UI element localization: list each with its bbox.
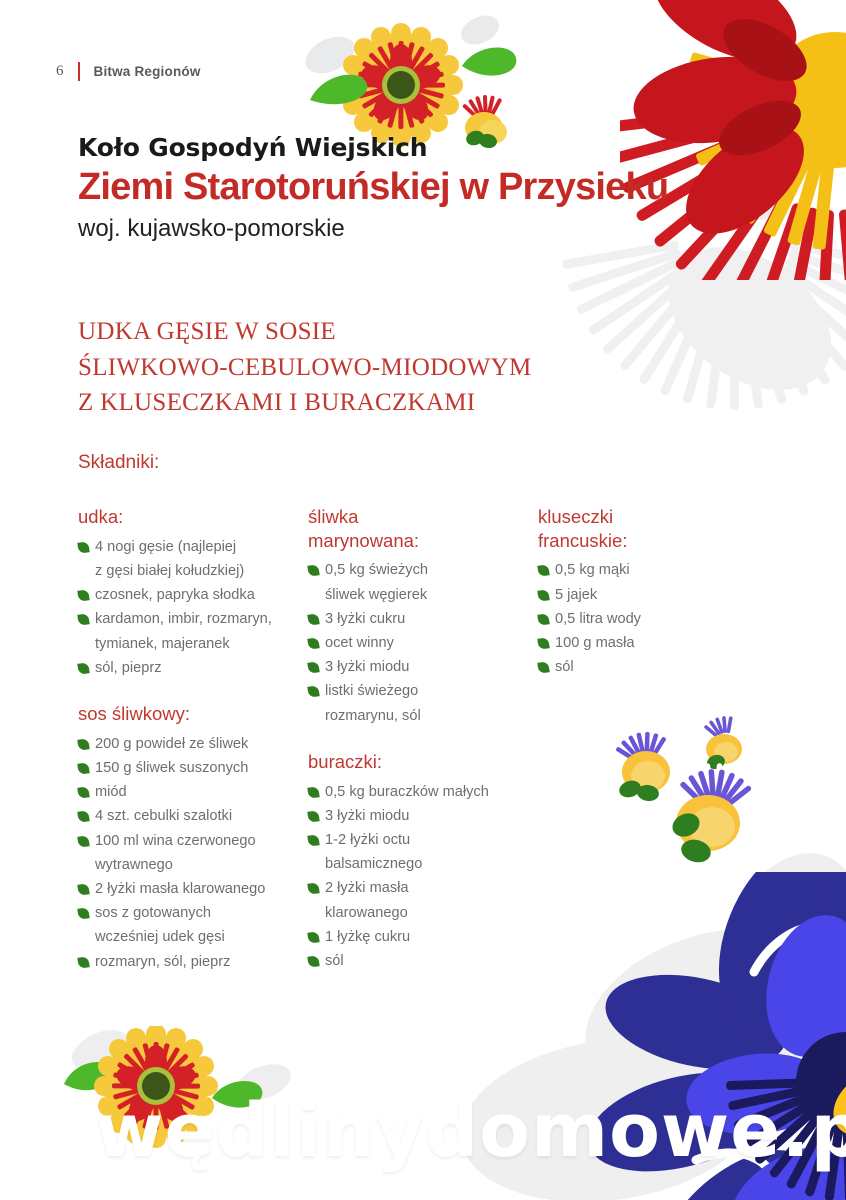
ingredients-columns: udka:4 nogi gęsie (najlepiejz gęsi białe… [78,505,798,996]
ingredient-item-line: sól [555,655,768,679]
leaf-bullet-icon [307,931,319,943]
ingredient-group: sos śliwkowy:200 g powideł ze śliwek150 … [78,702,308,974]
ingredient-group-title: sos śliwkowy: [78,702,308,726]
ingredient-group: buraczki:0,5 kg buraczków małych3 łyżki … [308,750,538,973]
ingredient-item: 0,5 kg mąki [538,558,768,582]
ingredient-list: 200 g powideł ze śliwek150 g śliwek susz… [78,732,308,974]
leaf-bullet-icon [77,541,89,553]
ingredient-group-title: udka: [78,505,308,529]
ingredient-item: listki świeżegorozmarynu, sól [308,679,538,727]
ingredient-item-line: 4 szt. cebulki szalotki [95,804,308,828]
leaf-bullet-icon [537,589,549,601]
ingredient-item: czosnek, papryka słodka [78,583,308,607]
ingredient-item: 3 łyżki miodu [308,804,538,828]
ingredient-group-title: kluseczkifrancuskie: [538,505,768,552]
organization-name: Koło Gospodyń Wiejskich [78,134,668,162]
header-divider [78,62,80,81]
ingredient-item-line: z gęsi białej kołudzkiej) [95,559,308,583]
ingredient-list: 0,5 kg świeżychśliwek węgierek3 łyżki cu… [308,558,538,728]
ingredient-item-line: wcześniej udek gęsi [95,925,308,949]
ingredient-item: 100 ml wina czerwonegowytrawnego [78,829,308,877]
ingredient-item: 150 g śliwek suszonych [78,756,308,780]
ingredient-item-line: balsamicznego [325,852,538,876]
ingredient-item-line: 150 g śliwek suszonych [95,756,308,780]
leaf-bullet-icon [77,738,89,750]
recipe-title-line-2: ŚLIWKOWO-CEBULOWO-MIODOWYM [78,350,532,386]
ingredient-item-line: listki świeżego [325,679,538,703]
ingredient-item: sos z gotowanychwcześniej udek gęsi [78,901,308,949]
ingredient-item-line: rozmaryn, sól, pieprz [95,950,308,974]
leaf-bullet-icon [307,565,319,577]
ingredient-item: 4 szt. cebulki szalotki [78,804,308,828]
ingredient-item-line: 3 łyżki cukru [325,607,538,631]
ingredient-item-line: tymianek, majeranek [95,632,308,656]
ingredient-item: 1 łyżkę cukru [308,925,538,949]
ingredient-item-line: miód [95,780,308,804]
leaf-bullet-icon [307,662,319,674]
leaf-bullet-icon [77,762,89,774]
leaf-bullet-icon [537,637,549,649]
ingredient-group: kluseczkifrancuskie:0,5 kg mąki5 jajek0,… [538,505,768,679]
document-page: wędlinydomowe.pl 6 Bitwa Regionów Koło G… [0,0,846,1200]
ingredient-item-line: wytrawnego [95,853,308,877]
ingredient-item: 100 g masła [538,631,768,655]
leaf-bullet-icon [77,907,89,919]
ingredients-column-1: udka:4 nogi gęsie (najlepiejz gęsi białe… [78,505,308,996]
ingredient-group-title: buraczki: [308,750,538,774]
ingredient-list: 4 nogi gęsie (najlepiejz gęsi białej koł… [78,535,308,680]
publication-title: Bitwa Regionów [94,64,201,79]
leaf-bullet-icon [307,637,319,649]
ingredient-item: 200 g powideł ze śliwek [78,732,308,756]
ingredient-item-line: czosnek, papryka słodka [95,583,308,607]
ingredient-item: 2 łyżki masłaklarowanego [308,876,538,924]
recipe-title: UDKA GĘSIE W SOSIE ŚLIWKOWO-CEBULOWO-MIO… [78,314,532,421]
ingredient-item-line: 100 g masła [555,631,768,655]
recipe-title-line-3: Z KLUSECZKAMI I BURACZKAMI [78,385,532,421]
ingredient-item-line: 0,5 kg mąki [555,558,768,582]
leaf-bullet-icon [77,956,89,968]
voivodeship-name: woj. kujawsko-pomorskie [78,215,668,243]
ingredient-item-line: 100 ml wina czerwonego [95,829,308,853]
ingredient-item-line: 3 łyżki miodu [325,655,538,679]
leaf-bullet-icon [307,613,319,625]
leaf-bullet-icon [77,786,89,798]
flower-yellow-small-icon [336,20,466,150]
site-watermark: wędlinydomowe.pl [95,1088,846,1174]
ingredient-item: 5 jajek [538,583,768,607]
ingredient-list: 0,5 kg mąki5 jajek0,5 litra wody100 g ma… [538,558,768,679]
ingredient-item-line: 4 nogi gęsie (najlepiej [95,535,308,559]
ingredient-item: 3 łyżki cukru [308,607,538,631]
ingredient-item: ocet winny [308,631,538,655]
ingredient-item: 0,5 kg buraczków małych [308,780,538,804]
ingredient-item: sól [538,655,768,679]
leaf-bullet-icon [77,811,89,823]
leaf-bullet-icon [77,835,89,847]
ingredient-item: 0,5 litra wody [538,607,768,631]
leaf-bullet-icon [537,565,549,577]
ingredient-item: 3 łyżki miodu [308,655,538,679]
recipe-title-line-1: UDKA GĘSIE W SOSIE [78,314,532,350]
page-number: 6 [56,63,64,80]
leaf-bullet-icon [77,662,89,674]
ingredient-item-line: kardamon, imbir, rozmaryn, [95,607,308,631]
ingredient-item: 1-2 łyżki octubalsamicznego [308,828,538,876]
leaf-bullet-icon [537,662,549,674]
ingredient-item: miód [78,780,308,804]
ingredient-item-line: ocet winny [325,631,538,655]
ingredient-item-line: sól, pieprz [95,656,308,680]
leaf-bullet-icon [307,834,319,846]
ingredient-item: 0,5 kg świeżychśliwek węgierek [308,558,538,606]
ingredient-item: sól, pieprz [78,656,308,680]
ingredient-item-line: 1-2 łyżki octu [325,828,538,852]
leaf-bullet-icon [77,589,89,601]
leaf-bullet-icon [307,686,319,698]
ingredient-item: rozmaryn, sól, pieprz [78,950,308,974]
leaf-bullet-icon [537,613,549,625]
ingredient-item-line: 0,5 kg świeżych [325,558,538,582]
leaf-bullet-icon [307,955,319,967]
ingredient-item-line: 3 łyżki miodu [325,804,538,828]
ingredient-item-line: śliwek węgierek [325,583,538,607]
ingredient-item-line: 200 g powideł ze śliwek [95,732,308,756]
region-name: Ziemi Starotoruńskiej w Przysieku [78,168,668,208]
leaf-bullet-icon [77,883,89,895]
leaf-bullet-icon [307,810,319,822]
ingredient-item: 2 łyżki masła klarowanego [78,877,308,901]
ingredient-item: kardamon, imbir, rozmaryn,tymianek, maje… [78,607,308,655]
leaf-bullet-icon [307,883,319,895]
ingredient-item-line: 0,5 kg buraczków małych [325,780,538,804]
leaf-bullet-icon [307,786,319,798]
ingredient-item: sól [308,949,538,973]
title-block: Koło Gospodyń Wiejskich Ziemi Starotoruń… [78,134,668,243]
ingredient-item-line: 0,5 litra wody [555,607,768,631]
ingredient-list: 0,5 kg buraczków małych3 łyżki miodu1-2 … [308,780,538,974]
ingredient-group: śliwkamarynowana:0,5 kg świeżychśliwek w… [308,505,538,728]
leaf-bullet-icon [77,614,89,626]
ingredients-column-3: kluseczkifrancuskie:0,5 kg mąki5 jajek0,… [538,505,768,701]
ingredient-item-line: 1 łyżkę cukru [325,925,538,949]
ingredient-item-line: 2 łyżki masła klarowanego [95,877,308,901]
ingredients-label: Składniki: [78,452,159,474]
page-header: 6 Bitwa Regionów [56,62,201,81]
ingredient-item-line: sól [325,949,538,973]
ingredient-item-line: sos z gotowanych [95,901,308,925]
leaf-decoration-top-icon [290,30,550,150]
ingredient-item-line: 2 łyżki masła [325,876,538,900]
ingredient-group-title: śliwkamarynowana: [308,505,538,552]
ingredient-item-line: 5 jajek [555,583,768,607]
ingredient-item-line: klarowanego [325,901,538,925]
ingredient-item: 4 nogi gęsie (najlepiejz gęsi białej koł… [78,535,308,583]
ingredient-group: udka:4 nogi gęsie (najlepiejz gęsi białe… [78,505,308,680]
ingredient-item-line: rozmarynu, sól [325,704,538,728]
ingredients-column-2: śliwkamarynowana:0,5 kg świeżychśliwek w… [308,505,538,995]
